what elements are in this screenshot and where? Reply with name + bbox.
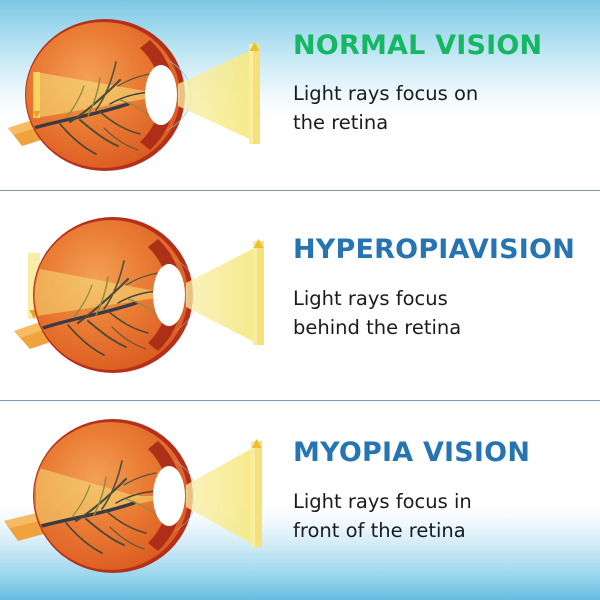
object-arrow-icon — [249, 42, 260, 144]
hyperopia-vision-text-block: HYPEROPIAVISION Light rays focus behind … — [285, 191, 600, 343]
description-line: the retina — [293, 109, 553, 138]
description-line: front of the retina — [293, 517, 553, 546]
hyperopia-vision-description: Light rays focus behind the retina — [293, 285, 553, 343]
light-beam-icon — [186, 245, 260, 345]
normal-vision-text-block: NORMAL VISION Light rays focus on the re… — [285, 0, 600, 138]
description-line: Light rays focus on — [293, 80, 553, 109]
lens-icon — [153, 466, 185, 526]
page-title-myopia-vision: MYOPIA VISION — [293, 439, 600, 466]
panel-normal-vision: NORMAL VISION Light rays focus on the re… — [0, 0, 600, 190]
eyeball-icon — [0, 0, 285, 190]
page-title-hyperopia-vision: HYPEROPIAVISION — [293, 236, 600, 263]
description-line: behind the retina — [293, 314, 553, 343]
vision-types-infographic: NORMAL VISION Light rays focus on the re… — [0, 0, 600, 600]
hyperopia-vision-eye-diagram — [0, 191, 285, 400]
normal-vision-description: Light rays focus on the retina — [293, 80, 553, 138]
normal-vision-eye-diagram — [0, 0, 285, 190]
panel-myopia-vision: MYOPIA VISION Light rays focus in front … — [0, 401, 600, 600]
object-arrow-icon — [251, 439, 262, 547]
panel-hyperopia-vision: HYPEROPIAVISION Light rays focus behind … — [0, 191, 600, 400]
light-beam-icon — [186, 445, 258, 547]
lens-icon — [153, 264, 185, 326]
object-arrow-icon — [253, 239, 264, 345]
description-line: Light rays focus — [293, 285, 553, 314]
myopia-vision-eye-diagram — [0, 401, 285, 600]
eyeball-icon — [0, 191, 285, 400]
page-title-normal-vision: NORMAL VISION — [293, 32, 600, 59]
focal-point-icon — [33, 72, 41, 118]
myopia-vision-description: Light rays focus in front of the retina — [293, 488, 553, 546]
description-line: Light rays focus in — [293, 488, 553, 517]
light-beam-icon — [178, 48, 256, 142]
lens-icon — [145, 65, 177, 125]
eyeball-icon — [0, 401, 285, 600]
myopia-vision-text-block: MYOPIA VISION Light rays focus in front … — [285, 401, 600, 546]
